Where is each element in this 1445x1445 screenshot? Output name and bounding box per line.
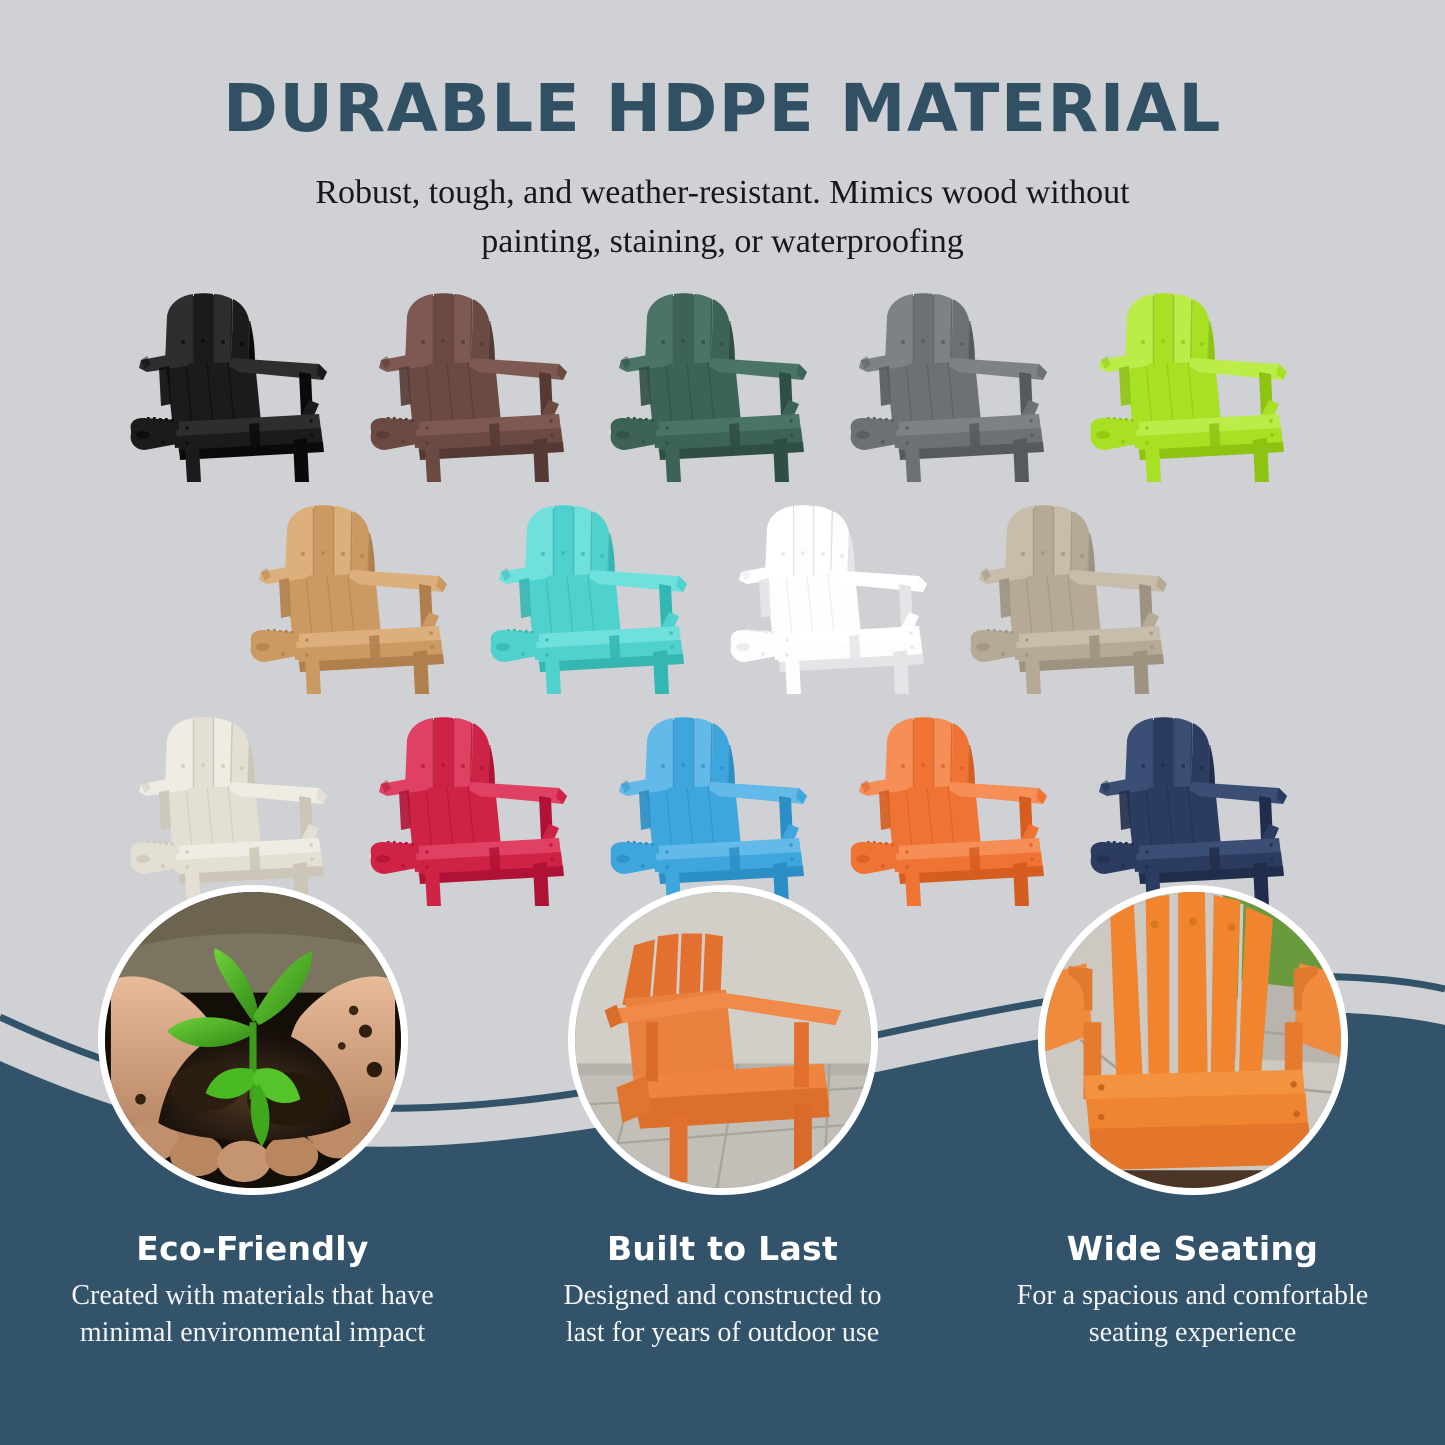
chair-runner-cutout (616, 855, 630, 863)
chair-front-right-leg (1013, 438, 1029, 482)
chair-front-left-leg (785, 658, 801, 694)
feature-description: Designed and constructed to last for yea… (563, 1278, 881, 1352)
chair-rear-leg (1209, 847, 1221, 879)
subtitle-line-2: painting, staining, or waterproofing (223, 218, 1223, 266)
chair-runner-cutout (136, 431, 150, 439)
chair-swatch-sky-blue[interactable] (603, 696, 843, 906)
chair-rear-leg (729, 423, 741, 455)
chair-left-arm-post (1119, 366, 1131, 406)
chair-runner-cutout (616, 431, 630, 439)
adirondack-chair-ivory (123, 696, 363, 906)
chair-swatch-weathered-taupe[interactable] (963, 484, 1203, 694)
chair-rear-leg (969, 847, 981, 879)
feature-desc-line-1: For a spacious and comfortable (1017, 1278, 1368, 1315)
chair-front-left-leg (665, 446, 681, 482)
seedling-illustration (105, 892, 401, 1188)
chair-front-right-leg (413, 650, 429, 694)
chair-swatch-orange[interactable] (843, 696, 1083, 906)
chair-left-arm-post (999, 578, 1011, 618)
chair-swatch-gray[interactable] (843, 272, 1083, 482)
chair-left-arm-post (1119, 790, 1131, 830)
feature-description: Created with materials that have minimal… (71, 1278, 433, 1352)
feature-desc-line-2: last for years of outdoor use (563, 1315, 881, 1352)
adirondack-chair-weathered-taupe (963, 484, 1203, 694)
patio-chair-illustration (575, 892, 871, 1188)
hands-holding-seedling-photo (98, 885, 408, 1195)
chair-left-arm-post (279, 578, 291, 618)
chair-rear-leg (969, 423, 981, 455)
chair-runner-cutout (736, 643, 750, 651)
adirondack-chair-white (723, 484, 963, 694)
chair-swatch-crimson-red[interactable] (363, 696, 603, 906)
subtitle-line-1: Robust, tough, and weather-resistant. Mi… (223, 169, 1223, 217)
orange-adirondack-chair-on-patio-photo (568, 885, 878, 1195)
chair-front-right-leg (773, 438, 789, 482)
page-title: DURABLE HDPE MATERIAL (0, 74, 1445, 143)
chair-rear-leg (489, 847, 501, 879)
chair-runner-cutout (496, 643, 510, 651)
chair-left-arm-post (159, 790, 171, 830)
adirondack-chair-teak-tan (243, 484, 483, 694)
feature-title: Wide Seating (1067, 1229, 1318, 1268)
chair-runner-cutout (1096, 855, 1110, 863)
chair-swatch-brown[interactable] (363, 272, 603, 482)
chair-runner-cutout (256, 643, 270, 651)
feature-list: Eco-Friendly Created with materials that… (0, 885, 1445, 1445)
chair-runner-cutout (976, 643, 990, 651)
chair-runner-cutout (136, 855, 150, 863)
adirondack-chair-gray (843, 272, 1083, 482)
chair-swatch-ivory[interactable] (123, 696, 363, 906)
chair-left-arm-post (639, 366, 651, 406)
chair-rear-leg (249, 423, 261, 455)
chair-rear-leg (1089, 635, 1101, 667)
header: DURABLE HDPE MATERIAL Robust, tough, and… (0, 0, 1445, 266)
feature-eco-friendly: Eco-Friendly Created with materials that… (33, 885, 473, 1445)
adirondack-chair-lime-green (1083, 272, 1323, 482)
chair-color-grid (0, 272, 1445, 906)
adirondack-chair-brown (363, 272, 603, 482)
adirondack-chair-sky-blue (603, 696, 843, 906)
feature-title: Eco-Friendly (136, 1229, 368, 1268)
chair-row-1 (0, 272, 1445, 482)
chair-front-left-leg (1025, 658, 1041, 694)
chair-front-right-leg (533, 438, 549, 482)
chair-swatch-teak-tan[interactable] (243, 484, 483, 694)
chair-runner-cutout (856, 431, 870, 439)
chair-row-2 (0, 484, 1445, 694)
feature-desc-line-1: Created with materials that have (71, 1278, 433, 1315)
chair-left-arm-post (639, 790, 651, 830)
chair-rear-leg (249, 847, 261, 879)
chair-front-right-leg (293, 438, 309, 482)
chair-front-right-leg (893, 650, 909, 694)
feature-desc-line-1: Designed and constructed to (563, 1278, 881, 1315)
chair-front-left-leg (185, 446, 201, 482)
chair-left-arm-post (759, 578, 771, 618)
adirondack-chair-orange (843, 696, 1083, 906)
chair-left-arm-post (399, 790, 411, 830)
chair-row-3 (0, 696, 1445, 906)
chair-rear-leg (1209, 423, 1221, 455)
chair-left-arm-post (519, 578, 531, 618)
chair-runner-cutout (376, 431, 390, 439)
chair-rear-leg (609, 635, 621, 667)
chair-front-left-leg (1145, 446, 1161, 482)
adirondack-chair-crimson-red (363, 696, 603, 906)
chair-runner-cutout (856, 855, 870, 863)
chair-front-left-leg (305, 658, 321, 694)
chair-left-arm-post (879, 366, 891, 406)
wide-seat-closeup-illustration (1045, 892, 1341, 1188)
chair-left-arm-post (879, 790, 891, 830)
feature-wide-seating: Wide Seating For a spacious and comforta… (973, 885, 1413, 1445)
chair-rear-leg (489, 423, 501, 455)
chair-front-right-leg (1133, 650, 1149, 694)
chair-front-right-leg (653, 650, 669, 694)
chair-front-left-leg (545, 658, 561, 694)
adirondack-chair-dark-green (603, 272, 843, 482)
chair-rear-leg (729, 847, 741, 879)
chair-runner-cutout (1096, 431, 1110, 439)
chair-runner-cutout (376, 855, 390, 863)
page-subtitle: Robust, tough, and weather-resistant. Mi… (223, 169, 1223, 266)
chair-swatch-dark-green[interactable] (603, 272, 843, 482)
chair-swatch-black[interactable] (123, 272, 363, 482)
feature-desc-line-2: minimal environmental impact (71, 1315, 433, 1352)
orange-chair-wide-seat-closeup-photo (1038, 885, 1348, 1195)
chair-swatch-navy-blue[interactable] (1083, 696, 1323, 906)
chair-swatch-lime-green[interactable] (1083, 272, 1323, 482)
chair-swatch-white[interactable] (723, 484, 963, 694)
feature-title: Built to Last (607, 1229, 838, 1268)
chair-rear-leg (849, 635, 861, 667)
feature-built-to-last: Built to Last Designed and constructed t… (503, 885, 943, 1445)
chair-front-right-leg (1253, 438, 1269, 482)
chair-front-left-leg (425, 446, 441, 482)
adirondack-chair-black (123, 272, 363, 482)
adirondack-chair-turquoise (483, 484, 723, 694)
chair-swatch-turquoise[interactable] (483, 484, 723, 694)
feature-desc-line-2: seating experience (1017, 1315, 1368, 1352)
chair-front-left-leg (905, 446, 921, 482)
chair-left-arm-post (399, 366, 411, 406)
chair-left-arm-post (159, 366, 171, 406)
chair-rear-leg (369, 635, 381, 667)
feature-description: For a spacious and comfortable seating e… (1017, 1278, 1368, 1352)
adirondack-chair-navy-blue (1083, 696, 1323, 906)
